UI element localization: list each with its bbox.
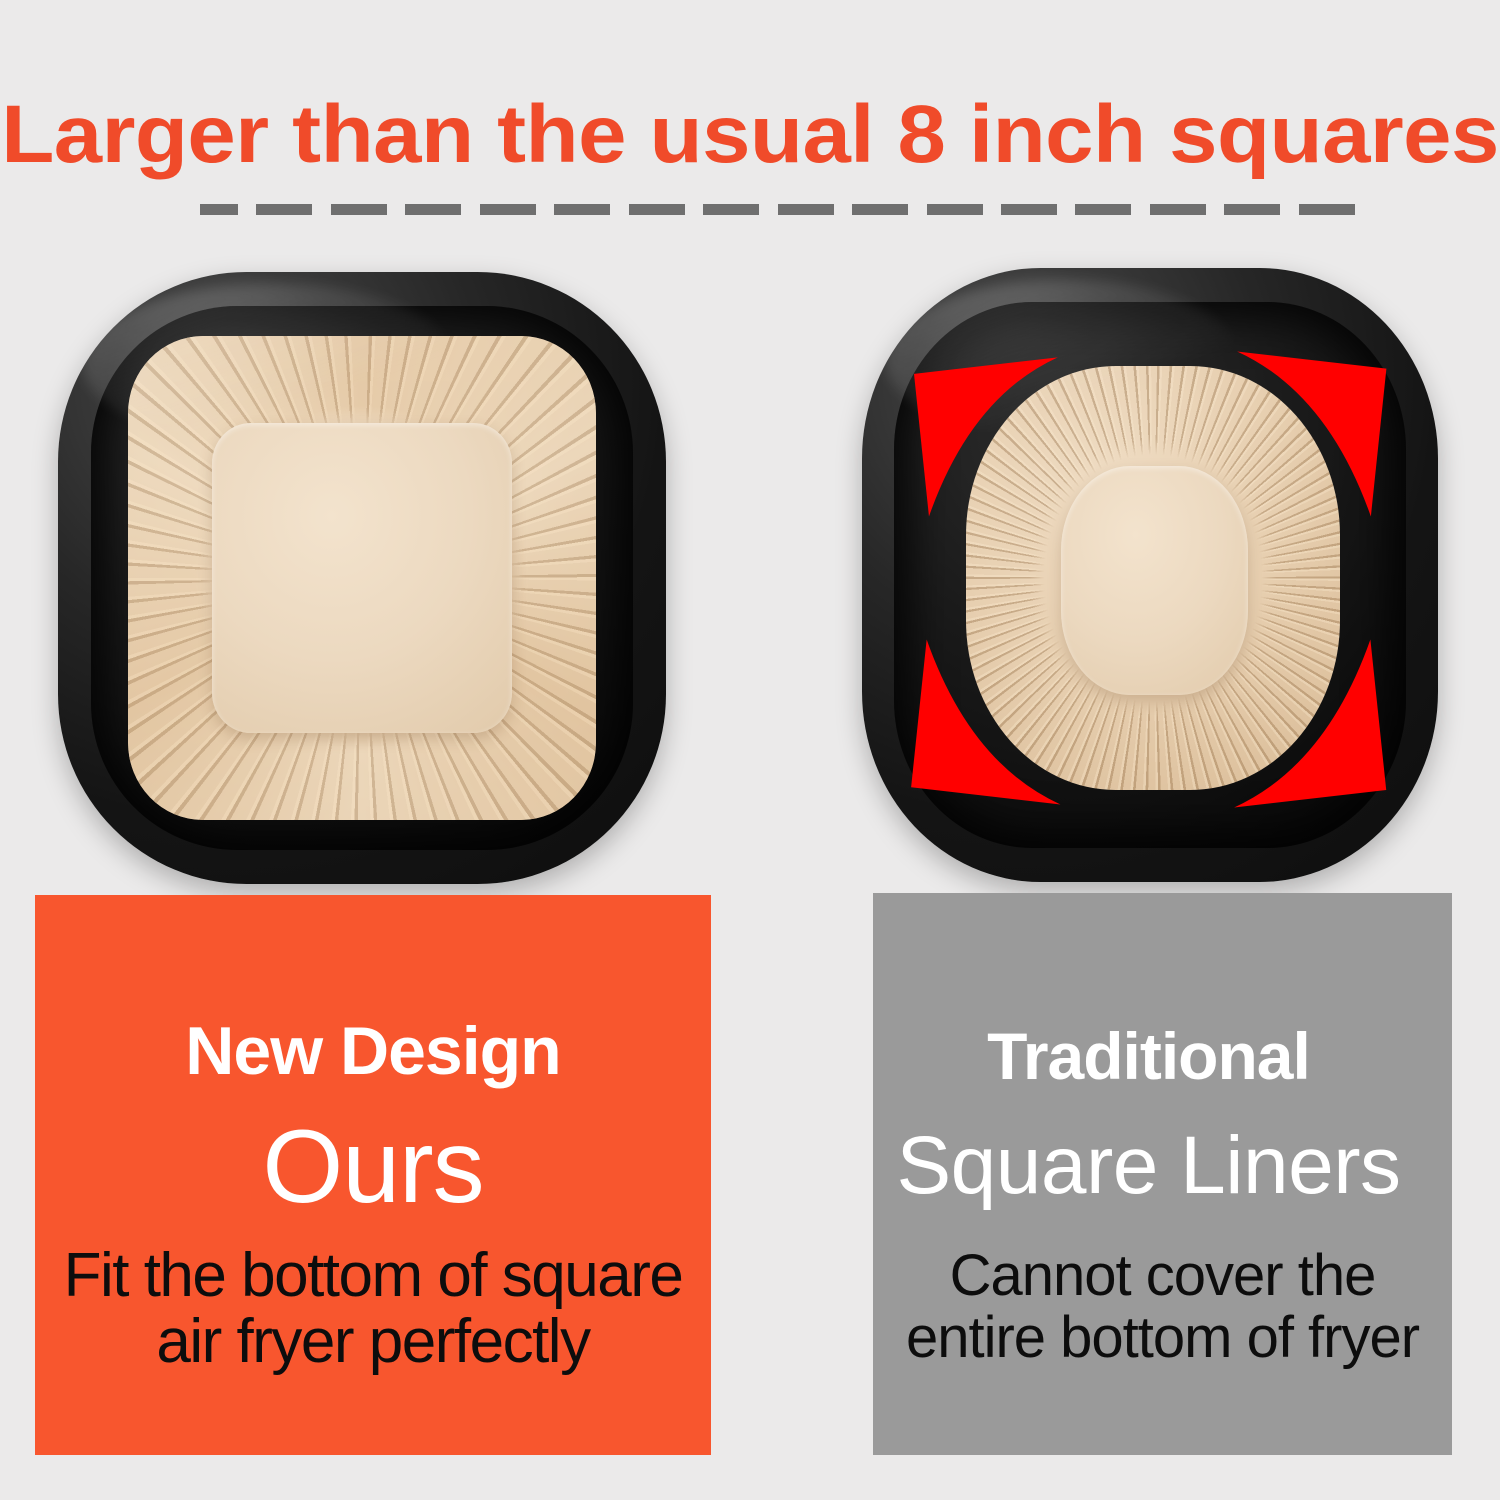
- divider-dash: [1150, 204, 1206, 215]
- air-fryer-basket-right: [862, 268, 1438, 882]
- divider-dash: [554, 204, 610, 215]
- panel-traditional-brand: Square Liners: [859, 1123, 1438, 1209]
- panel-ours-brand: Ours: [35, 1113, 711, 1221]
- divider-dash: [256, 204, 312, 215]
- parchment-liner-large-square: [128, 336, 596, 819]
- panel-ours-description: Fit the bottom of square air fryer perfe…: [35, 1243, 711, 1375]
- panel-traditional-kicker: Traditional: [859, 1021, 1438, 1091]
- comparison-infographic: Larger than the usual 8 inch squares: [0, 0, 1500, 1500]
- red-corner-marker-icon: [1231, 636, 1389, 811]
- panel-traditional-description: Cannot cover the entire bottom of fryer: [873, 1245, 1452, 1369]
- red-corner-marker-icon: [911, 354, 1061, 520]
- caption-panel-traditional: Traditional Square Liners Cannot cover t…: [873, 893, 1452, 1455]
- panel-ours-kicker: New Design: [35, 1015, 711, 1087]
- caption-panel-ours: New Design Ours Fit the bottom of square…: [35, 895, 711, 1455]
- divider-dash: [1075, 204, 1131, 215]
- divider-dash: [852, 204, 908, 215]
- divider-dash: [1224, 204, 1280, 215]
- red-corner-marker-icon: [1234, 348, 1390, 520]
- photo-new-design-basket: [58, 272, 666, 884]
- photo-traditional-basket: [862, 268, 1438, 882]
- divider-dash: [927, 204, 983, 215]
- divider-dash: [405, 204, 461, 215]
- divider-dash: [1299, 204, 1355, 215]
- liner-floor-left: [212, 423, 512, 732]
- divider-dash: [778, 204, 834, 215]
- divider-dash: [629, 204, 685, 215]
- liner-floor-right: [1061, 466, 1248, 695]
- liner-left-wrap: [58, 272, 666, 884]
- air-fryer-basket-left: [58, 272, 666, 884]
- divider-dash: [331, 204, 387, 215]
- divider-dash: [200, 204, 238, 215]
- divider-dash: [480, 204, 536, 215]
- red-corner-marker-icon: [908, 636, 1064, 808]
- page-headline: Larger than the usual 8 inch squares: [0, 92, 1500, 178]
- dashed-divider: [200, 204, 1355, 215]
- divider-dash: [703, 204, 759, 215]
- divider-dash: [1001, 204, 1057, 215]
